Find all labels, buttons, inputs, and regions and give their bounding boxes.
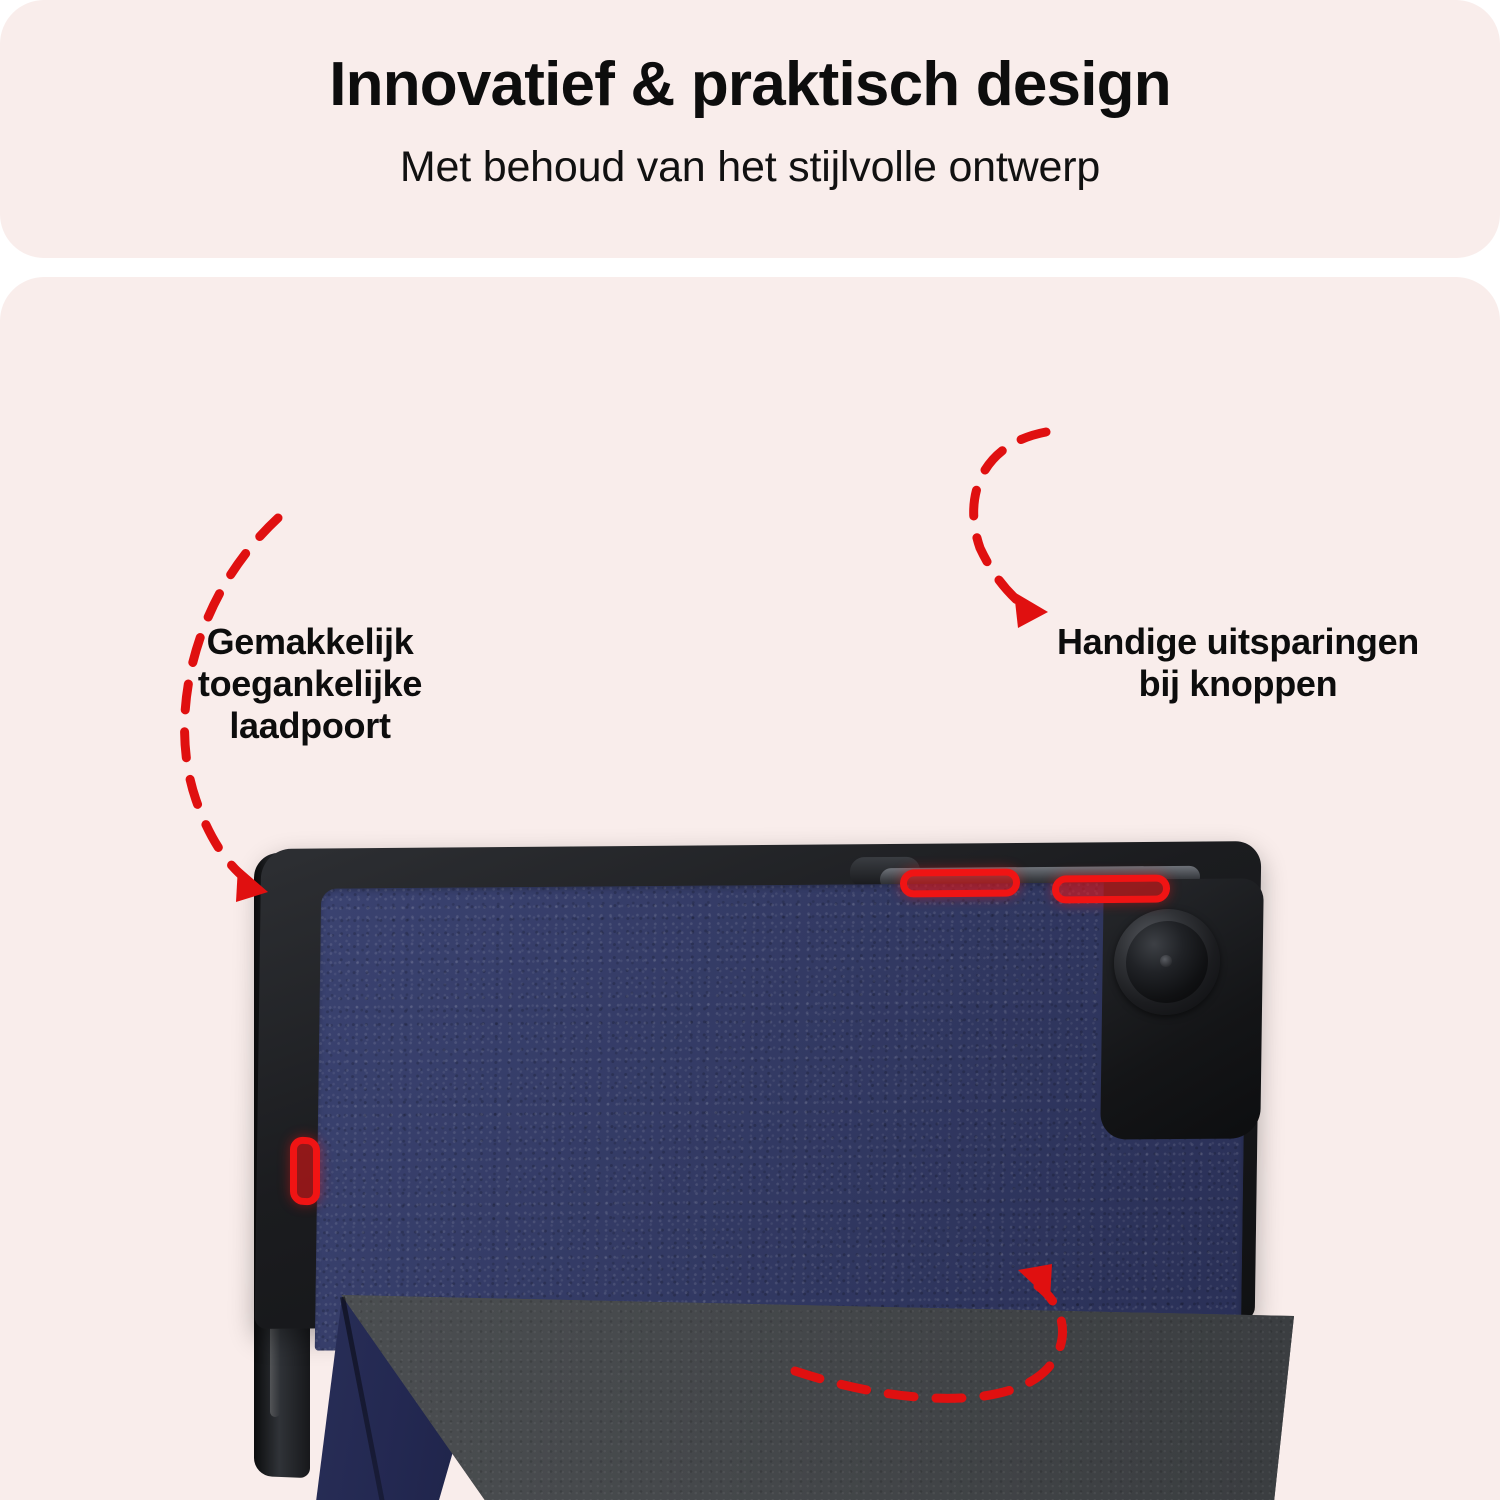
volume-button-cutout-highlight [900,869,1020,898]
header-panel: Innovatief & praktisch design Met behoud… [0,0,1500,258]
power-button-cutout-highlight [1052,875,1170,904]
infographic-page: Innovatief & praktisch design Met behoud… [0,0,1500,1500]
tablet-case-illustration [240,827,1290,1500]
product-showcase-panel: Gemakkelijk toegankelijke laadpoort Hand… [0,277,1500,1500]
callout-label-charging-port: Gemakkelijk toegankelijke laadpoort [118,621,502,746]
camera-sensor-dot [1160,955,1172,967]
callout-label-button-cutouts: Handige uitsparingen bij knoppen [1038,621,1438,705]
page-title: Innovatief & praktisch design [0,52,1500,117]
page-subtitle: Met behoud van het stijlvolle ontwerp [0,142,1500,194]
charging-port-cutout-highlight [290,1136,320,1205]
